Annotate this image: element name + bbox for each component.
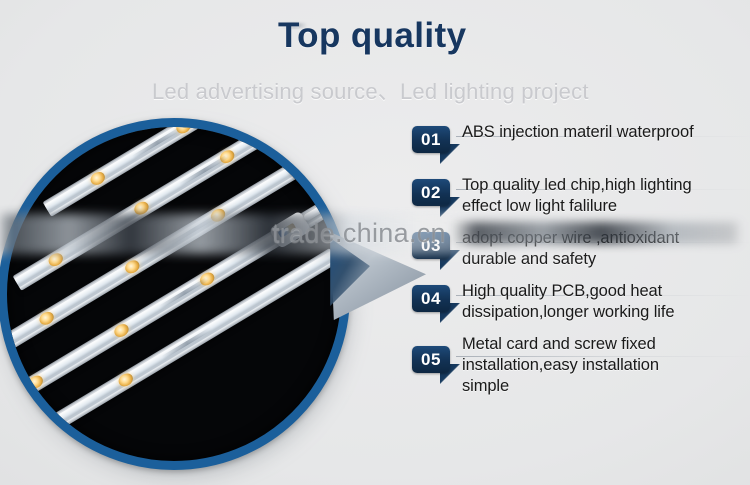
- page-title: Top quality: [278, 16, 466, 56]
- page-subtitle: Led advertising source、Led lighting proj…: [152, 74, 589, 106]
- feature-item: 04 High quality PCB,good heat dissipatio…: [412, 281, 750, 325]
- feature-text: ABS injection materil waterproof: [462, 122, 750, 143]
- bar-print: [159, 276, 211, 309]
- bar-print: [179, 154, 231, 187]
- feature-item: 03 adopt copper wire ,antioxidant durabl…: [412, 228, 750, 272]
- feature-number-badge: 02: [412, 179, 450, 206]
- bar-print: [168, 213, 220, 246]
- led-bar: [7, 127, 341, 361]
- feature-item: 02 Top quality led chip,high lighting ef…: [412, 175, 750, 219]
- led-bar-photo: [7, 127, 341, 461]
- feature-text: High quality PCB,good heat dissipation,l…: [462, 281, 750, 323]
- feature-number-badge: 05: [412, 346, 450, 373]
- feature-number-badge: 03: [412, 232, 450, 259]
- product-feature-banner: Top quality Led advertising source、Led l…: [0, 0, 750, 485]
- feature-list: 01 ABS injection materil waterproof 02 T…: [412, 122, 750, 387]
- bar-print: [161, 326, 213, 359]
- product-magnifier: [0, 118, 362, 482]
- feature-number-badge: 01: [412, 126, 450, 153]
- feature-text: adopt copper wire ,antioxidant durable a…: [462, 228, 750, 270]
- lens-ring: [0, 118, 350, 470]
- bar-print: [131, 127, 183, 159]
- feature-text: Top quality led chip,high lighting effec…: [462, 175, 750, 217]
- feature-item: 05 Metal card and screw fixed installati…: [412, 334, 750, 378]
- feature-number-badge: 04: [412, 285, 450, 312]
- feature-item: 01 ABS injection materil waterproof: [412, 122, 750, 166]
- feature-text: Metal card and screw fixed installation,…: [462, 334, 750, 397]
